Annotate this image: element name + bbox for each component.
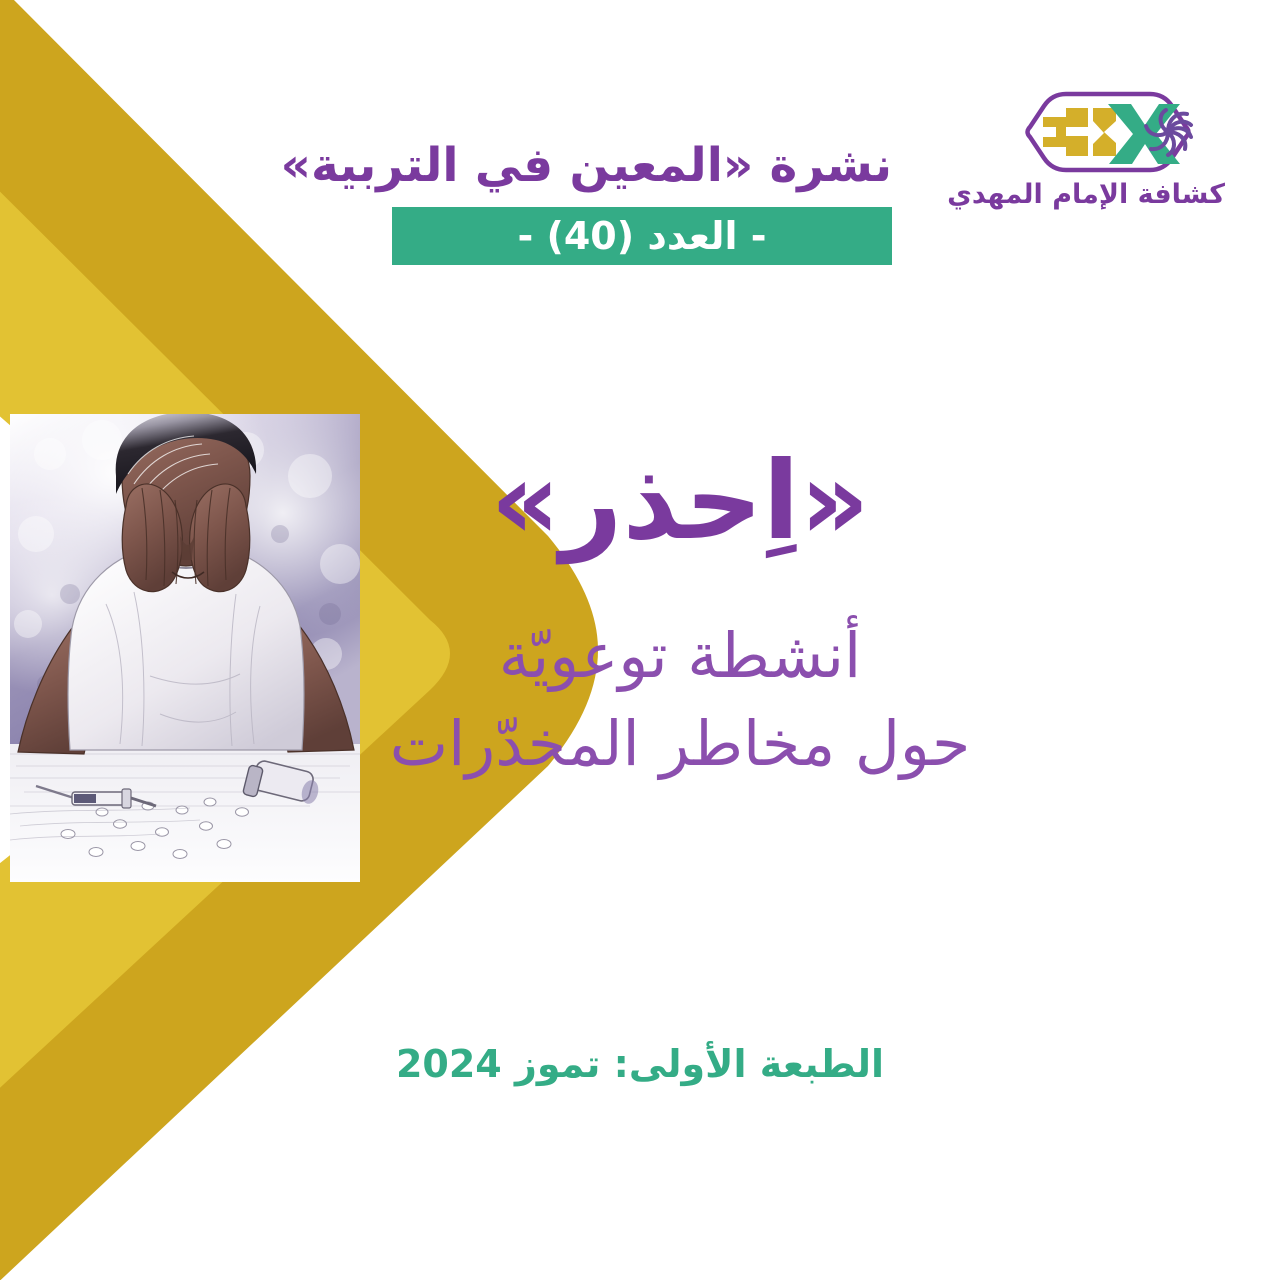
edition-note: الطبعة الأولى: تموز 2024 [340, 1042, 940, 1086]
subheadline-line-1: أنشطة توعويّة [180, 612, 1180, 700]
headline-block: «اِحذر» أنشطة توعويّة حول مخاطر المخدّرا… [180, 440, 1180, 788]
issue-number-badge: - العدد (40) - [392, 207, 892, 265]
logo-wordmark: كشافة الإمام المهدي [990, 180, 1225, 210]
main-headline: «اِحذر» [180, 440, 1180, 564]
logo-wordmark-text: كشافة الإمام المهدي [947, 179, 1225, 210]
subheadline: أنشطة توعويّة حول مخاطر المخدّرات [180, 612, 1180, 788]
bulletin-title: نشرة «المعين في التربية» [392, 138, 892, 193]
scouts-emblem-icon [1018, 88, 1198, 176]
organization-logo: كشافة الإمام المهدي [990, 88, 1225, 210]
subheadline-line-2: حول مخاطر المخدّرات [180, 700, 1180, 788]
cover-page: نشرة «المعين في التربية» - العدد (40) - [0, 0, 1280, 1280]
masthead: نشرة «المعين في التربية» - العدد (40) - [392, 138, 892, 265]
